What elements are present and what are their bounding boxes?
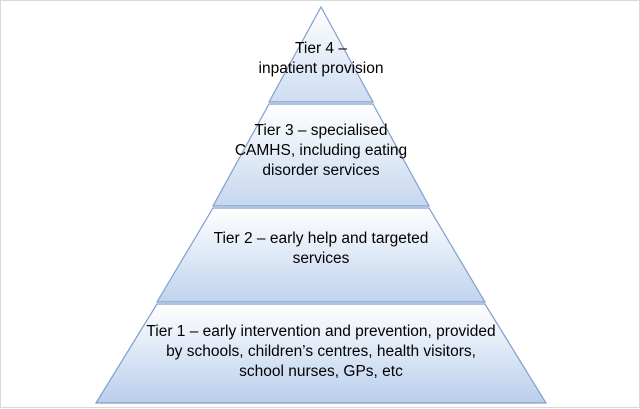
pyramid-diagram [1, 1, 640, 409]
pyramid-level-tier-3[interactable] [213, 104, 429, 206]
diagram-canvas: Tier 4 – inpatient provision Tier 3 – sp… [0, 0, 640, 408]
pyramid-level-tier-4[interactable] [269, 7, 373, 102]
pyramid-level-tier-2[interactable] [157, 208, 485, 302]
pyramid-level-tier-1[interactable] [96, 304, 546, 403]
